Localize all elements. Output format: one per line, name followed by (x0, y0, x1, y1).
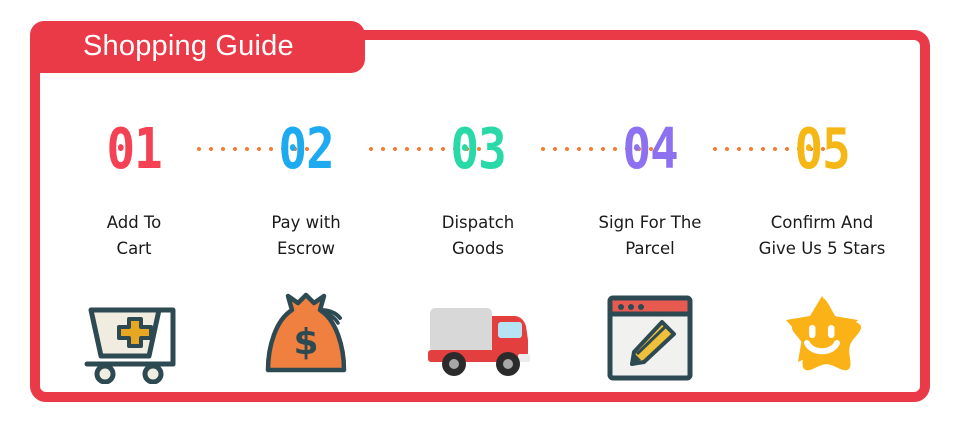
step-icon-cell-2: $ (220, 292, 392, 384)
step-icon-cell-5 (736, 294, 908, 382)
step-number-row: 01 02 03 04 05 (48, 118, 912, 180)
money-bag-icon: $ (262, 292, 350, 384)
step-label-5: Confirm And Give Us 5 Stars (737, 210, 907, 261)
step-icon-row: $ (48, 290, 912, 386)
step-number-cell-3: 03 (392, 124, 564, 174)
step-label-cell-3: Dispatch Goods (392, 210, 564, 261)
smiling-star-icon (776, 294, 868, 382)
step-icon-cell-4 (564, 294, 736, 382)
step-number-05: 05 (794, 121, 849, 177)
step-number-01: 01 (106, 121, 161, 177)
svg-text:$: $ (293, 322, 318, 363)
shopping-guide-banner: Shopping Guide 01 02 03 04 05 Add To Car… (0, 0, 960, 432)
step-label-4: Sign For The Parcel (565, 210, 735, 261)
browser-pencil-icon (606, 294, 694, 382)
step-number-03: 03 (450, 121, 505, 177)
step-label-cell-1: Add To Cart (48, 210, 220, 261)
step-label-cell-2: Pay with Escrow (220, 210, 392, 261)
step-number-cell-1: 01 (48, 124, 220, 174)
step-number-cell-5: 05 (736, 124, 908, 174)
step-label-row: Add To Cart Pay with Escrow Dispatch Goo… (48, 210, 912, 261)
step-number-cell-2: 02 (220, 124, 392, 174)
shopping-cart-icon (81, 292, 187, 384)
step-number-cell-4: 04 (564, 124, 736, 174)
tab-frame-joint (30, 64, 40, 86)
page-title: Shopping Guide (83, 30, 294, 63)
step-number-02: 02 (278, 121, 333, 177)
step-label-3: Dispatch Goods (393, 210, 563, 261)
step-label-cell-5: Confirm And Give Us 5 Stars (736, 210, 908, 261)
step-label-2: Pay with Escrow (221, 210, 391, 261)
step-label-1: Add To Cart (49, 210, 219, 261)
step-icon-cell-3 (392, 296, 564, 380)
step-label-cell-4: Sign For The Parcel (564, 210, 736, 261)
delivery-truck-icon (422, 296, 534, 380)
title-tab: Shopping Guide (30, 21, 365, 73)
step-icon-cell-1 (48, 292, 220, 384)
step-number-04: 04 (622, 121, 677, 177)
